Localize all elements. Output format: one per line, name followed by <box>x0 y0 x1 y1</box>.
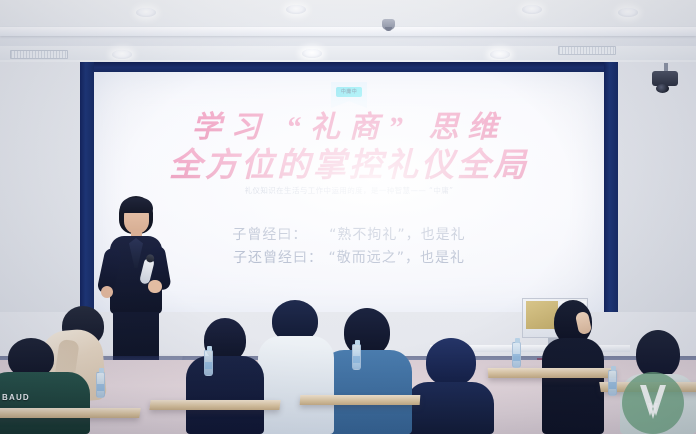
ceiling-downlight <box>136 8 156 17</box>
ceiling-light-band <box>0 27 696 36</box>
slide-badge-label: 中庸中 <box>336 87 362 97</box>
wall-panel-left <box>0 62 84 312</box>
screen-pillar-right <box>604 62 618 312</box>
audience-body <box>0 372 90 434</box>
water-bottle <box>96 372 105 398</box>
list-item <box>540 300 606 434</box>
bottle-label <box>353 356 360 363</box>
audience-body <box>542 338 604 434</box>
audience-body <box>322 350 412 434</box>
ceiling-downlight <box>490 50 510 59</box>
slide-title-line2: 全方位的掌控礼仪全局 <box>94 138 604 186</box>
bottle-label <box>609 382 616 389</box>
presenter-hand-right <box>148 280 162 293</box>
jacket-text: BAUD <box>2 393 30 402</box>
audience-head <box>636 330 680 378</box>
water-bottle <box>204 350 213 376</box>
presenter-fringe <box>120 198 153 213</box>
air-vent <box>10 50 68 59</box>
video-frame: 中庸中 学习 “礼商” 思维 全方位的掌控礼仪全局 礼仪知识在生活与工作中运用的… <box>0 0 696 434</box>
list-item <box>0 346 90 434</box>
presenter-hand-left <box>101 286 113 298</box>
camera-lens-icon <box>656 84 669 93</box>
water-bottle <box>608 370 617 396</box>
screen-pillar-left <box>80 62 94 312</box>
ceiling-downlight <box>286 5 306 14</box>
ceiling-downlight <box>302 49 322 58</box>
desk <box>149 400 280 410</box>
ceiling-downlight <box>112 50 132 59</box>
bottle-label <box>97 384 104 391</box>
water-bottle <box>512 342 521 368</box>
list-item <box>400 338 498 434</box>
smoke-detector <box>382 19 395 30</box>
slide-badge: 中庸中 <box>326 80 372 98</box>
list-item <box>186 318 264 434</box>
watermark-v-icon <box>636 383 670 423</box>
bottle-label <box>513 354 520 361</box>
wall-panel-right <box>618 62 696 312</box>
list-item <box>322 308 412 434</box>
audience-body <box>406 382 494 434</box>
audience-body <box>186 356 264 434</box>
ceiling-downlight <box>618 8 638 17</box>
audience-body <box>258 336 334 434</box>
audience-head-with-cap <box>426 338 476 386</box>
slide-subtitle: 礼仪知识在生活与工作中运用的度，是一种智慧—— “中庸” <box>94 185 604 196</box>
water-bottle <box>352 344 361 370</box>
desk <box>488 368 617 378</box>
screen-top-bar <box>94 62 604 72</box>
desk <box>0 408 141 418</box>
bottle-label <box>205 362 212 369</box>
list-item <box>258 300 334 434</box>
ceiling-downlight <box>522 5 542 14</box>
watermark-logo <box>622 372 684 434</box>
ceiling <box>0 0 696 46</box>
audience-head <box>344 308 390 356</box>
desk <box>300 395 421 405</box>
air-vent <box>558 46 616 55</box>
